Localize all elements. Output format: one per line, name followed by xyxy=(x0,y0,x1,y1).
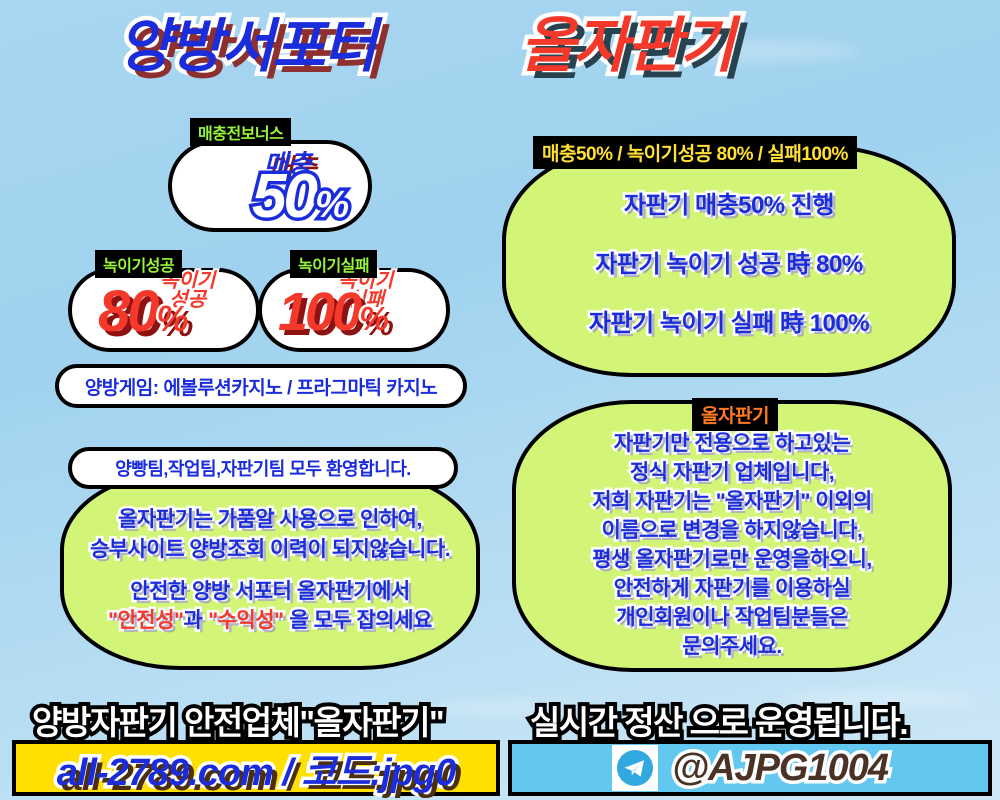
melt-fail-percent: 100% xyxy=(278,285,386,339)
conjunction-word: 과 xyxy=(184,609,203,632)
about-line-1: 자판기만 전용으로 하고있는 xyxy=(514,430,950,459)
profit-word: "수익성" xyxy=(208,609,283,632)
website-url-text: all-2789.com / 코드:jpg0 xyxy=(57,741,456,796)
about-line-8: 문의주세요. xyxy=(514,633,950,662)
bonus-card-tag: 매충전보너스 xyxy=(190,118,291,146)
about-line-4: 이름으로 변경을 하지않습니다, xyxy=(514,517,950,546)
left-info-line-4: "안전성"과 "수익성" 을 모두 잡의세요 xyxy=(62,606,478,636)
games-pill-label: 양방게임: 에볼루션카지노 / 프라그마틱 카지노 xyxy=(85,373,437,400)
about-line-6: 안전하게 자판기를 이용하실 xyxy=(514,575,950,604)
about-line-2: 정식 자판기 업체입니다, xyxy=(514,459,950,488)
rates-line-3: 자판기 녹이기 실패 時 100% xyxy=(504,310,954,339)
page-title-right: 올자판기 xyxy=(520,16,733,76)
left-info-line-1: 올자판기는 가품알 사용으로 인하여, xyxy=(62,505,478,535)
rates-panel-band: 매충50% / 녹이기성공 80% / 실패100% xyxy=(533,136,857,169)
about-line-3: 저희 자판기는 "올자판기" 이외의 xyxy=(514,488,950,517)
about-panel-lines: 자판기만 전용으로 하고있는 정식 자판기 업체입니다, 저희 자판기는 "올자… xyxy=(514,430,950,662)
about-line-7: 개인회원이나 작업팀분들은 xyxy=(514,604,950,633)
melt-fail-percent-number: 100 xyxy=(278,282,359,342)
about-line-5: 평생 올자판기로만 운영을하오니, xyxy=(514,546,950,575)
telegram-bar[interactable]: @AJPG1004 xyxy=(508,740,992,796)
bonus-card-percent: 50% xyxy=(252,166,346,228)
left-info-lines: 올자판기는 가품알 사용으로 인하여, 승부사이트 양방조회 이력이 되지않습니… xyxy=(62,505,478,636)
bonus-percent-symbol: % xyxy=(315,183,346,226)
melt-success-percent-symbol: % xyxy=(157,298,186,339)
telegram-handle-text: @AJPG1004 xyxy=(672,747,888,790)
welcome-pill: 양빵팀,작업팀,자판기팀 모두 환영합니다. xyxy=(68,447,458,489)
rates-panel-lines: 자판기 매충50% 진행 자판기 녹이기 성공 時 80% 자판기 녹이기 실패… xyxy=(504,192,954,338)
catch-both-word: 을 모두 잡의세요 xyxy=(289,609,431,632)
footer-headline-left: 양방자판기 안전업체"올자판기" xyxy=(32,696,443,744)
rates-line-1: 자판기 매충50% 진행 xyxy=(504,192,954,221)
bonus-percent-number: 50 xyxy=(252,162,315,231)
safety-word: "안전성" xyxy=(108,609,183,632)
melt-fail-percent-symbol: % xyxy=(359,301,386,338)
left-info-line-2: 승부사이트 양방조회 이력이 되지않습니다. xyxy=(62,535,478,565)
melt-success-percent: 80% xyxy=(98,283,185,341)
melt-success-percent-number: 80 xyxy=(98,279,157,344)
telegram-icon xyxy=(612,745,658,791)
about-panel-band: 올자판기 xyxy=(692,398,778,431)
page-title-left: 양방서포터 xyxy=(118,18,375,76)
games-pill: 양방게임: 에볼루션카지노 / 프라그마틱 카지노 xyxy=(55,364,467,408)
melt-fail-tag: 녹이기실패 xyxy=(290,250,377,278)
melt-success-tag: 녹이기성공 xyxy=(95,250,182,278)
rates-line-2: 자판기 녹이기 성공 時 80% xyxy=(504,251,954,280)
welcome-pill-label: 양빵팀,작업팀,자판기팀 모두 환영합니다. xyxy=(115,455,411,481)
footer-headline-right: 실시간 정산 으로 운영됩니다. xyxy=(530,696,907,744)
left-info-line-3: 안전한 양방 서포터 올자판기에서 xyxy=(62,577,478,607)
website-bar[interactable]: all-2789.com / 코드:jpg0 xyxy=(12,740,500,796)
